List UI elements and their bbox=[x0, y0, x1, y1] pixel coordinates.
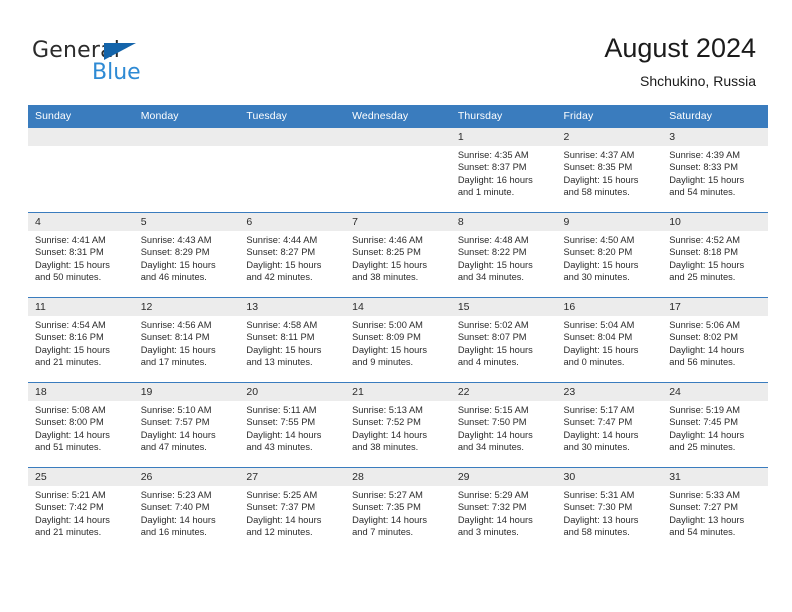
sunset-text: Sunset: 8:16 PM bbox=[35, 331, 128, 343]
calendar-page: General Blue August 2024 Shchukino, Russ… bbox=[0, 0, 792, 612]
day-details: Sunrise: 4:37 AMSunset: 8:35 PMDaylight:… bbox=[557, 146, 663, 198]
day-details: Sunrise: 4:56 AMSunset: 8:14 PMDaylight:… bbox=[134, 316, 240, 368]
calendar-day-cell[interactable]: 18Sunrise: 5:08 AMSunset: 8:00 PMDayligh… bbox=[28, 383, 134, 468]
calendar-day-cell[interactable]: 11Sunrise: 4:54 AMSunset: 8:16 PMDayligh… bbox=[28, 298, 134, 383]
calendar-day-cell[interactable]: 28Sunrise: 5:27 AMSunset: 7:35 PMDayligh… bbox=[345, 468, 451, 553]
day-number: 18 bbox=[28, 383, 134, 401]
daylight-text: Daylight: 15 hours bbox=[564, 344, 657, 356]
daylight-text-cont: and 30 minutes. bbox=[564, 271, 657, 283]
sunrise-text: Sunrise: 5:10 AM bbox=[141, 404, 234, 416]
daylight-text: Daylight: 14 hours bbox=[35, 429, 128, 441]
daylight-text-cont: and 38 minutes. bbox=[352, 271, 445, 283]
sunrise-text: Sunrise: 5:23 AM bbox=[141, 489, 234, 501]
weekday-header-saturday: Saturday bbox=[662, 105, 768, 128]
day-number: 10 bbox=[662, 213, 768, 231]
sunset-text: Sunset: 7:47 PM bbox=[564, 416, 657, 428]
daylight-text-cont: and 34 minutes. bbox=[458, 271, 551, 283]
sunrise-text: Sunrise: 4:48 AM bbox=[458, 234, 551, 246]
day-details: Sunrise: 5:23 AMSunset: 7:40 PMDaylight:… bbox=[134, 486, 240, 538]
daylight-text: Daylight: 14 hours bbox=[458, 429, 551, 441]
day-number: 6 bbox=[239, 213, 345, 231]
sunset-text: Sunset: 8:04 PM bbox=[564, 331, 657, 343]
daylight-text: Daylight: 14 hours bbox=[35, 514, 128, 526]
calendar-week-row: 25Sunrise: 5:21 AMSunset: 7:42 PMDayligh… bbox=[28, 468, 768, 553]
sunset-text: Sunset: 7:52 PM bbox=[352, 416, 445, 428]
daylight-text: Daylight: 15 hours bbox=[352, 344, 445, 356]
calendar-day-cell[interactable]: 21Sunrise: 5:13 AMSunset: 7:52 PMDayligh… bbox=[345, 383, 451, 468]
calendar-day-cell[interactable]: 14Sunrise: 5:00 AMSunset: 8:09 PMDayligh… bbox=[345, 298, 451, 383]
calendar-day-cell[interactable]: 23Sunrise: 5:17 AMSunset: 7:47 PMDayligh… bbox=[557, 383, 663, 468]
day-number: 1 bbox=[451, 128, 557, 146]
weekday-header-tuesday: Tuesday bbox=[239, 105, 345, 128]
daylight-text-cont: and 25 minutes. bbox=[669, 271, 762, 283]
calendar-day-cell-empty bbox=[345, 128, 451, 213]
day-number: 26 bbox=[134, 468, 240, 486]
day-details: Sunrise: 5:21 AMSunset: 7:42 PMDaylight:… bbox=[28, 486, 134, 538]
day-details: Sunrise: 4:48 AMSunset: 8:22 PMDaylight:… bbox=[451, 231, 557, 283]
day-details: Sunrise: 5:10 AMSunset: 7:57 PMDaylight:… bbox=[134, 401, 240, 453]
calendar-day-cell[interactable]: 6Sunrise: 4:44 AMSunset: 8:27 PMDaylight… bbox=[239, 213, 345, 298]
page-title: August 2024 bbox=[604, 32, 756, 65]
day-number: 12 bbox=[134, 298, 240, 316]
day-number bbox=[134, 128, 240, 146]
day-details: Sunrise: 4:46 AMSunset: 8:25 PMDaylight:… bbox=[345, 231, 451, 283]
sunset-text: Sunset: 7:27 PM bbox=[669, 501, 762, 513]
daylight-text-cont: and 4 minutes. bbox=[458, 356, 551, 368]
day-number: 28 bbox=[345, 468, 451, 486]
sunrise-text: Sunrise: 5:08 AM bbox=[35, 404, 128, 416]
sunset-text: Sunset: 8:25 PM bbox=[352, 246, 445, 258]
daylight-text-cont: and 30 minutes. bbox=[564, 441, 657, 453]
weekday-header-row: Sunday Monday Tuesday Wednesday Thursday… bbox=[28, 105, 768, 128]
sunset-text: Sunset: 8:18 PM bbox=[669, 246, 762, 258]
sunrise-text: Sunrise: 5:04 AM bbox=[564, 319, 657, 331]
sunset-text: Sunset: 8:20 PM bbox=[564, 246, 657, 258]
daylight-text: Daylight: 13 hours bbox=[669, 514, 762, 526]
day-number: 30 bbox=[557, 468, 663, 486]
day-number: 21 bbox=[345, 383, 451, 401]
calendar-day-cell[interactable]: 30Sunrise: 5:31 AMSunset: 7:30 PMDayligh… bbox=[557, 468, 663, 553]
calendar-day-cell[interactable]: 31Sunrise: 5:33 AMSunset: 7:27 PMDayligh… bbox=[662, 468, 768, 553]
sunrise-text: Sunrise: 4:46 AM bbox=[352, 234, 445, 246]
daylight-text-cont: and 13 minutes. bbox=[246, 356, 339, 368]
daylight-text: Daylight: 14 hours bbox=[564, 429, 657, 441]
daylight-text-cont: and 54 minutes. bbox=[669, 526, 762, 538]
day-details: Sunrise: 5:04 AMSunset: 8:04 PMDaylight:… bbox=[557, 316, 663, 368]
calendar-day-cell[interactable]: 7Sunrise: 4:46 AMSunset: 8:25 PMDaylight… bbox=[345, 213, 451, 298]
sunset-text: Sunset: 8:31 PM bbox=[35, 246, 128, 258]
daylight-text: Daylight: 15 hours bbox=[141, 344, 234, 356]
day-number: 25 bbox=[28, 468, 134, 486]
calendar-day-cell[interactable]: 12Sunrise: 4:56 AMSunset: 8:14 PMDayligh… bbox=[134, 298, 240, 383]
daylight-text-cont: and 17 minutes. bbox=[141, 356, 234, 368]
day-number: 8 bbox=[451, 213, 557, 231]
day-details: Sunrise: 5:13 AMSunset: 7:52 PMDaylight:… bbox=[345, 401, 451, 453]
daylight-text-cont: and 54 minutes. bbox=[669, 186, 762, 198]
day-number: 11 bbox=[28, 298, 134, 316]
calendar-day-cell[interactable]: 27Sunrise: 5:25 AMSunset: 7:37 PMDayligh… bbox=[239, 468, 345, 553]
calendar-body: 1Sunrise: 4:35 AMSunset: 8:37 PMDaylight… bbox=[28, 128, 768, 553]
daylight-text: Daylight: 15 hours bbox=[669, 174, 762, 186]
daylight-text: Daylight: 15 hours bbox=[564, 174, 657, 186]
calendar-day-cell[interactable]: 9Sunrise: 4:50 AMSunset: 8:20 PMDaylight… bbox=[557, 213, 663, 298]
calendar-day-cell[interactable]: 24Sunrise: 5:19 AMSunset: 7:45 PMDayligh… bbox=[662, 383, 768, 468]
day-number: 14 bbox=[345, 298, 451, 316]
sunrise-text: Sunrise: 5:29 AM bbox=[458, 489, 551, 501]
sunrise-text: Sunrise: 4:43 AM bbox=[141, 234, 234, 246]
sunrise-text: Sunrise: 5:33 AM bbox=[669, 489, 762, 501]
calendar-day-cell[interactable]: 25Sunrise: 5:21 AMSunset: 7:42 PMDayligh… bbox=[28, 468, 134, 553]
calendar-week-row: 18Sunrise: 5:08 AMSunset: 8:00 PMDayligh… bbox=[28, 383, 768, 468]
sunset-text: Sunset: 7:35 PM bbox=[352, 501, 445, 513]
page-header: General Blue August 2024 Shchukino, Russ… bbox=[0, 0, 792, 100]
daylight-text: Daylight: 14 hours bbox=[141, 514, 234, 526]
day-details: Sunrise: 4:41 AMSunset: 8:31 PMDaylight:… bbox=[28, 231, 134, 283]
day-number bbox=[28, 128, 134, 146]
sunrise-text: Sunrise: 4:35 AM bbox=[458, 149, 551, 161]
daylight-text-cont: and 7 minutes. bbox=[352, 526, 445, 538]
sunrise-text: Sunrise: 5:13 AM bbox=[352, 404, 445, 416]
daylight-text: Daylight: 15 hours bbox=[669, 259, 762, 271]
daylight-text: Daylight: 15 hours bbox=[246, 344, 339, 356]
calendar-day-cell[interactable]: 16Sunrise: 5:04 AMSunset: 8:04 PMDayligh… bbox=[557, 298, 663, 383]
sunrise-text: Sunrise: 5:15 AM bbox=[458, 404, 551, 416]
weekday-header-thursday: Thursday bbox=[451, 105, 557, 128]
daylight-text: Daylight: 15 hours bbox=[564, 259, 657, 271]
daylight-text: Daylight: 15 hours bbox=[246, 259, 339, 271]
calendar-grid: Sunday Monday Tuesday Wednesday Thursday… bbox=[28, 105, 768, 552]
day-details: Sunrise: 5:02 AMSunset: 8:07 PMDaylight:… bbox=[451, 316, 557, 368]
sunset-text: Sunset: 7:40 PM bbox=[141, 501, 234, 513]
calendar-day-cell-empty bbox=[134, 128, 240, 213]
sunset-text: Sunset: 8:35 PM bbox=[564, 161, 657, 173]
sunset-text: Sunset: 7:37 PM bbox=[246, 501, 339, 513]
daylight-text-cont: and 9 minutes. bbox=[352, 356, 445, 368]
day-details: Sunrise: 5:06 AMSunset: 8:02 PMDaylight:… bbox=[662, 316, 768, 368]
daylight-text-cont: and 51 minutes. bbox=[35, 441, 128, 453]
day-details: Sunrise: 5:17 AMSunset: 7:47 PMDaylight:… bbox=[557, 401, 663, 453]
day-details: Sunrise: 5:25 AMSunset: 7:37 PMDaylight:… bbox=[239, 486, 345, 538]
sunset-text: Sunset: 7:30 PM bbox=[564, 501, 657, 513]
day-number: 16 bbox=[557, 298, 663, 316]
sunrise-text: Sunrise: 5:31 AM bbox=[564, 489, 657, 501]
sunset-text: Sunset: 8:11 PM bbox=[246, 331, 339, 343]
day-details: Sunrise: 5:00 AMSunset: 8:09 PMDaylight:… bbox=[345, 316, 451, 368]
title-block: August 2024 Shchukino, Russia bbox=[604, 32, 756, 91]
day-details: Sunrise: 4:39 AMSunset: 8:33 PMDaylight:… bbox=[662, 146, 768, 198]
daylight-text-cont: and 56 minutes. bbox=[669, 356, 762, 368]
day-details: Sunrise: 5:19 AMSunset: 7:45 PMDaylight:… bbox=[662, 401, 768, 453]
daylight-text: Daylight: 14 hours bbox=[352, 429, 445, 441]
day-details: Sunrise: 5:08 AMSunset: 8:00 PMDaylight:… bbox=[28, 401, 134, 453]
sunrise-text: Sunrise: 4:58 AM bbox=[246, 319, 339, 331]
day-number: 9 bbox=[557, 213, 663, 231]
calendar-day-cell[interactable]: 29Sunrise: 5:29 AMSunset: 7:32 PMDayligh… bbox=[451, 468, 557, 553]
calendar-week-row: 11Sunrise: 4:54 AMSunset: 8:16 PMDayligh… bbox=[28, 298, 768, 383]
day-details: Sunrise: 4:43 AMSunset: 8:29 PMDaylight:… bbox=[134, 231, 240, 283]
sunset-text: Sunset: 8:14 PM bbox=[141, 331, 234, 343]
sunset-text: Sunset: 7:42 PM bbox=[35, 501, 128, 513]
sunrise-text: Sunrise: 4:37 AM bbox=[564, 149, 657, 161]
calendar-day-cell[interactable]: 5Sunrise: 4:43 AMSunset: 8:29 PMDaylight… bbox=[134, 213, 240, 298]
sunrise-text: Sunrise: 5:00 AM bbox=[352, 319, 445, 331]
page-subtitle: Shchukino, Russia bbox=[604, 71, 756, 91]
day-details: Sunrise: 5:29 AMSunset: 7:32 PMDaylight:… bbox=[451, 486, 557, 538]
day-number: 7 bbox=[345, 213, 451, 231]
day-number: 4 bbox=[28, 213, 134, 231]
daylight-text-cont: and 21 minutes. bbox=[35, 526, 128, 538]
daylight-text-cont: and 3 minutes. bbox=[458, 526, 551, 538]
calendar-day-cell[interactable]: 22Sunrise: 5:15 AMSunset: 7:50 PMDayligh… bbox=[451, 383, 557, 468]
sunrise-text: Sunrise: 4:50 AM bbox=[564, 234, 657, 246]
day-number: 15 bbox=[451, 298, 557, 316]
calendar-day-cell[interactable]: 17Sunrise: 5:06 AMSunset: 8:02 PMDayligh… bbox=[662, 298, 768, 383]
day-details: Sunrise: 5:11 AMSunset: 7:55 PMDaylight:… bbox=[239, 401, 345, 453]
calendar-week-row: 4Sunrise: 4:41 AMSunset: 8:31 PMDaylight… bbox=[28, 213, 768, 298]
weekday-header-sunday: Sunday bbox=[28, 105, 134, 128]
daylight-text: Daylight: 14 hours bbox=[246, 514, 339, 526]
weekday-header-wednesday: Wednesday bbox=[345, 105, 451, 128]
day-details: Sunrise: 5:15 AMSunset: 7:50 PMDaylight:… bbox=[451, 401, 557, 453]
calendar-day-cell[interactable]: 10Sunrise: 4:52 AMSunset: 8:18 PMDayligh… bbox=[662, 213, 768, 298]
sunset-text: Sunset: 8:29 PM bbox=[141, 246, 234, 258]
daylight-text: Daylight: 14 hours bbox=[352, 514, 445, 526]
daylight-text-cont: and 43 minutes. bbox=[246, 441, 339, 453]
daylight-text: Daylight: 14 hours bbox=[141, 429, 234, 441]
sunrise-text: Sunrise: 5:25 AM bbox=[246, 489, 339, 501]
weekday-header-monday: Monday bbox=[134, 105, 240, 128]
day-details: Sunrise: 5:27 AMSunset: 7:35 PMDaylight:… bbox=[345, 486, 451, 538]
daylight-text-cont: and 25 minutes. bbox=[669, 441, 762, 453]
calendar-day-cell[interactable]: 3Sunrise: 4:39 AMSunset: 8:33 PMDaylight… bbox=[662, 128, 768, 213]
daylight-text: Daylight: 15 hours bbox=[35, 259, 128, 271]
daylight-text: Daylight: 13 hours bbox=[564, 514, 657, 526]
day-number: 29 bbox=[451, 468, 557, 486]
calendar-day-cell[interactable]: 13Sunrise: 4:58 AMSunset: 8:11 PMDayligh… bbox=[239, 298, 345, 383]
sunset-text: Sunset: 7:50 PM bbox=[458, 416, 551, 428]
sunrise-text: Sunrise: 5:19 AM bbox=[669, 404, 762, 416]
sunrise-text: Sunrise: 4:54 AM bbox=[35, 319, 128, 331]
daylight-text: Daylight: 15 hours bbox=[352, 259, 445, 271]
calendar-week-row: 1Sunrise: 4:35 AMSunset: 8:37 PMDaylight… bbox=[28, 128, 768, 213]
day-details: Sunrise: 4:52 AMSunset: 8:18 PMDaylight:… bbox=[662, 231, 768, 283]
sunset-text: Sunset: 8:22 PM bbox=[458, 246, 551, 258]
logo-text-blue: Blue bbox=[92, 60, 141, 85]
day-details: Sunrise: 5:31 AMSunset: 7:30 PMDaylight:… bbox=[557, 486, 663, 538]
daylight-text: Daylight: 14 hours bbox=[669, 344, 762, 356]
sunset-text: Sunset: 8:37 PM bbox=[458, 161, 551, 173]
sunrise-text: Sunrise: 5:02 AM bbox=[458, 319, 551, 331]
daylight-text-cont: and 50 minutes. bbox=[35, 271, 128, 283]
daylight-text-cont: and 34 minutes. bbox=[458, 441, 551, 453]
day-number: 20 bbox=[239, 383, 345, 401]
daylight-text: Daylight: 15 hours bbox=[141, 259, 234, 271]
calendar-day-cell[interactable]: 15Sunrise: 5:02 AMSunset: 8:07 PMDayligh… bbox=[451, 298, 557, 383]
day-number: 23 bbox=[557, 383, 663, 401]
sunrise-text: Sunrise: 4:41 AM bbox=[35, 234, 128, 246]
sunset-text: Sunset: 8:07 PM bbox=[458, 331, 551, 343]
day-details: Sunrise: 4:54 AMSunset: 8:16 PMDaylight:… bbox=[28, 316, 134, 368]
day-details: Sunrise: 5:33 AMSunset: 7:27 PMDaylight:… bbox=[662, 486, 768, 538]
daylight-text: Daylight: 14 hours bbox=[669, 429, 762, 441]
daylight-text-cont: and 46 minutes. bbox=[141, 271, 234, 283]
calendar-day-cell[interactable]: 20Sunrise: 5:11 AMSunset: 7:55 PMDayligh… bbox=[239, 383, 345, 468]
sunset-text: Sunset: 7:45 PM bbox=[669, 416, 762, 428]
day-number bbox=[345, 128, 451, 146]
calendar-day-cell-empty bbox=[28, 128, 134, 213]
daylight-text: Daylight: 15 hours bbox=[458, 344, 551, 356]
sunset-text: Sunset: 7:55 PM bbox=[246, 416, 339, 428]
sunrise-text: Sunrise: 5:17 AM bbox=[564, 404, 657, 416]
sunset-text: Sunset: 8:00 PM bbox=[35, 416, 128, 428]
sunset-text: Sunset: 8:33 PM bbox=[669, 161, 762, 173]
day-details: Sunrise: 4:50 AMSunset: 8:20 PMDaylight:… bbox=[557, 231, 663, 283]
day-number: 19 bbox=[134, 383, 240, 401]
sunrise-text: Sunrise: 4:39 AM bbox=[669, 149, 762, 161]
daylight-text-cont: and 12 minutes. bbox=[246, 526, 339, 538]
weekday-header-friday: Friday bbox=[557, 105, 663, 128]
calendar-day-cell[interactable]: 1Sunrise: 4:35 AMSunset: 8:37 PMDaylight… bbox=[451, 128, 557, 213]
sunset-text: Sunset: 7:32 PM bbox=[458, 501, 551, 513]
calendar-day-cell[interactable]: 26Sunrise: 5:23 AMSunset: 7:40 PMDayligh… bbox=[134, 468, 240, 553]
daylight-text: Daylight: 14 hours bbox=[246, 429, 339, 441]
day-number: 27 bbox=[239, 468, 345, 486]
day-number: 22 bbox=[451, 383, 557, 401]
day-number: 17 bbox=[662, 298, 768, 316]
daylight-text: Daylight: 15 hours bbox=[458, 259, 551, 271]
sunrise-text: Sunrise: 5:06 AM bbox=[669, 319, 762, 331]
calendar-day-cell[interactable]: 2Sunrise: 4:37 AMSunset: 8:35 PMDaylight… bbox=[557, 128, 663, 213]
daylight-text-cont: and 0 minutes. bbox=[564, 356, 657, 368]
logo-triangle-icon bbox=[104, 43, 136, 60]
sunrise-text: Sunrise: 4:52 AM bbox=[669, 234, 762, 246]
daylight-text-cont: and 21 minutes. bbox=[35, 356, 128, 368]
daylight-text-cont: and 58 minutes. bbox=[564, 186, 657, 198]
daylight-text-cont: and 38 minutes. bbox=[352, 441, 445, 453]
sunrise-text: Sunrise: 4:56 AM bbox=[141, 319, 234, 331]
day-number: 3 bbox=[662, 128, 768, 146]
day-details: Sunrise: 4:35 AMSunset: 8:37 PMDaylight:… bbox=[451, 146, 557, 198]
daylight-text: Daylight: 14 hours bbox=[458, 514, 551, 526]
sunset-text: Sunset: 8:02 PM bbox=[669, 331, 762, 343]
general-blue-logo[interactable]: General Blue bbox=[32, 38, 222, 90]
day-number bbox=[239, 128, 345, 146]
day-number: 24 bbox=[662, 383, 768, 401]
daylight-text-cont: and 58 minutes. bbox=[564, 526, 657, 538]
daylight-text-cont: and 16 minutes. bbox=[141, 526, 234, 538]
daylight-text: Daylight: 16 hours bbox=[458, 174, 551, 186]
daylight-text-cont: and 1 minute. bbox=[458, 186, 551, 198]
day-number: 31 bbox=[662, 468, 768, 486]
calendar-day-cell[interactable]: 8Sunrise: 4:48 AMSunset: 8:22 PMDaylight… bbox=[451, 213, 557, 298]
sunrise-text: Sunrise: 5:11 AM bbox=[246, 404, 339, 416]
calendar-day-cell-empty bbox=[239, 128, 345, 213]
day-number: 2 bbox=[557, 128, 663, 146]
daylight-text-cont: and 47 minutes. bbox=[141, 441, 234, 453]
day-number: 13 bbox=[239, 298, 345, 316]
sunset-text: Sunset: 8:09 PM bbox=[352, 331, 445, 343]
sunrise-text: Sunrise: 5:27 AM bbox=[352, 489, 445, 501]
sunrise-text: Sunrise: 4:44 AM bbox=[246, 234, 339, 246]
sunrise-text: Sunrise: 5:21 AM bbox=[35, 489, 128, 501]
sunset-text: Sunset: 8:27 PM bbox=[246, 246, 339, 258]
daylight-text: Daylight: 15 hours bbox=[35, 344, 128, 356]
day-details: Sunrise: 4:44 AMSunset: 8:27 PMDaylight:… bbox=[239, 231, 345, 283]
sunset-text: Sunset: 7:57 PM bbox=[141, 416, 234, 428]
calendar-day-cell[interactable]: 19Sunrise: 5:10 AMSunset: 7:57 PMDayligh… bbox=[134, 383, 240, 468]
calendar-day-cell[interactable]: 4Sunrise: 4:41 AMSunset: 8:31 PMDaylight… bbox=[28, 213, 134, 298]
daylight-text-cont: and 42 minutes. bbox=[246, 271, 339, 283]
day-number: 5 bbox=[134, 213, 240, 231]
day-details: Sunrise: 4:58 AMSunset: 8:11 PMDaylight:… bbox=[239, 316, 345, 368]
